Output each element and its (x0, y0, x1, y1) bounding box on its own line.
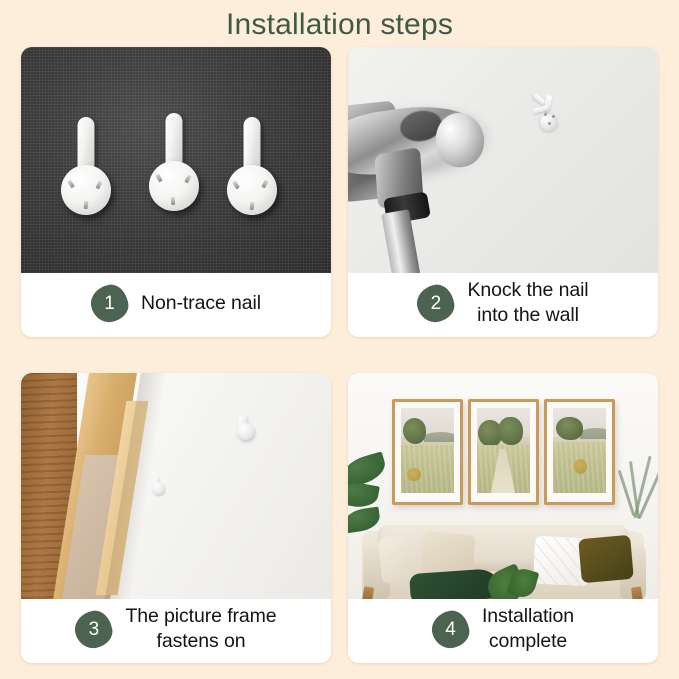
step-caption-3: 3 The picture frame fastens on (21, 599, 331, 663)
step-card-1[interactable]: 1 Non-trace nail (21, 47, 331, 337)
hook-nail-dot (544, 113, 547, 116)
hook-stem (78, 117, 95, 169)
artwork-hill (580, 428, 607, 438)
non-trace-nail-hook (227, 117, 277, 215)
artwork-tree (556, 417, 583, 441)
step-caption-text-3: The picture frame fastens on (125, 604, 276, 654)
framed-artwork (544, 399, 615, 505)
step-number-2: 2 (417, 285, 454, 322)
framed-artwork (468, 399, 539, 505)
step-caption-text-1: Non-trace nail (141, 291, 261, 316)
artwork-tree (498, 417, 522, 446)
hook-stem (166, 113, 183, 165)
step-number-3: 3 (75, 611, 112, 648)
hook-nail-dot (552, 115, 555, 118)
hook-pin (250, 202, 255, 210)
step-caption-4: 4 Installation complete (348, 599, 658, 663)
wall-corner-background (21, 373, 331, 599)
step-caption-1: 1 Non-trace nail (21, 273, 331, 337)
step-caption-2: 2 Knock the nail into the wall (348, 273, 658, 337)
wall-mounted-hook (150, 477, 166, 495)
artwork-mat (547, 402, 612, 502)
step-number-1: 1 (91, 285, 128, 322)
step-number-badge-4: 4 (432, 611, 469, 648)
step-caption-text-2: Knock the nail into the wall (467, 278, 588, 328)
hook-arm (533, 105, 550, 114)
framed-artwork (392, 399, 463, 505)
step-photo-4 (348, 373, 658, 599)
step-photo-2 (348, 47, 658, 273)
installation-steps-grid: 1 Non-trace nail (21, 47, 658, 663)
artwork-canvas (477, 408, 530, 493)
artwork-canvas (401, 408, 454, 493)
wall-mounted-hook (234, 415, 256, 440)
step-number-badge-3: 3 (75, 611, 112, 648)
step-card-3[interactable]: 3 The picture frame fastens on (21, 373, 331, 663)
step-number-4: 4 (432, 611, 469, 648)
page-title: Installation steps (0, 6, 679, 44)
artwork-mat (395, 402, 460, 502)
hook-nail-dot (548, 122, 551, 125)
artwork-tree (403, 418, 426, 444)
hook-disc (237, 423, 254, 440)
living-room-background (348, 373, 658, 599)
white-wall-background (348, 47, 658, 273)
hook-stem (244, 117, 261, 169)
step-number-badge-1: 1 (91, 285, 128, 322)
step-photo-3 (21, 373, 331, 599)
step-card-2[interactable]: 2 Knock the nail into the wall (348, 47, 658, 337)
dark-fabric-background (21, 47, 331, 273)
sofa-leg-left (362, 586, 374, 599)
artwork-mat (471, 402, 536, 502)
step-card-4[interactable]: 4 Installation complete (348, 373, 658, 663)
wall-mounted-hook (531, 95, 565, 131)
house-plant-leaf (348, 507, 381, 534)
artwork-bush (407, 468, 421, 482)
step-number-badge-2: 2 (417, 285, 454, 322)
house-plant-leaf (348, 480, 380, 511)
artwork-bush (574, 459, 587, 474)
hook-pin (171, 197, 176, 205)
step-photo-1 (21, 47, 331, 273)
artwork-canvas (553, 408, 606, 493)
hook-pin (84, 201, 89, 209)
non-trace-nail-hook (149, 113, 199, 211)
sofa-leg-right (631, 586, 643, 599)
sofa-pillow-olive (578, 535, 634, 583)
step-caption-text-4: Installation complete (482, 604, 574, 654)
non-trace-nail-hook (61, 117, 111, 215)
artwork-hill (424, 432, 454, 442)
hook-disc (152, 482, 164, 494)
